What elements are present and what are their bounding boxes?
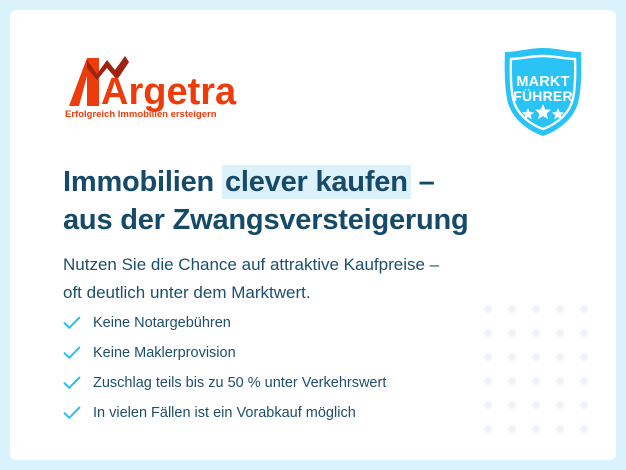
decorative-dot	[532, 353, 540, 361]
decorative-dot	[556, 353, 564, 361]
headline-line2: aus der Zwangsversteigerung	[63, 201, 563, 239]
decorative-dot	[532, 401, 540, 409]
list-item-label: Zuschlag teils bis zu 50 % unter Verkehr…	[93, 373, 386, 393]
decorative-dot	[556, 425, 564, 433]
decorative-dot	[556, 329, 564, 337]
argetra-logo-mark: Argetra Erfolgreich Immobilien ersteiger…	[63, 54, 263, 120]
market-leader-badge: MARKT FÜHRER	[499, 46, 587, 138]
decorative-dot	[580, 377, 588, 385]
argetra-logo[interactable]: Argetra Erfolgreich Immobilien ersteiger…	[63, 54, 263, 120]
benefit-list: Keine NotargebührenKeine Maklerprovision…	[63, 308, 523, 428]
decorative-dot	[580, 305, 588, 313]
badge-line2: FÜHRER	[513, 88, 573, 104]
headline-part1: Immobilien	[63, 166, 222, 198]
headline-part2: –	[411, 166, 435, 198]
subtitle: Nutzen Sie die Chance auf attraktive Kau…	[63, 251, 563, 307]
decorative-dot	[580, 353, 588, 361]
decorative-dot	[556, 377, 564, 385]
check-icon	[63, 346, 93, 360]
decorative-dot	[580, 401, 588, 409]
shield-icon: MARKT FÜHRER	[499, 46, 587, 138]
banner-root: Argetra Erfolgreich Immobilien ersteiger…	[0, 0, 626, 470]
page-title: Immobilien clever kaufen – aus der Zwang…	[63, 163, 563, 239]
check-icon	[63, 376, 93, 390]
list-item-label: Keine Notargebühren	[93, 313, 231, 333]
list-item: Keine Notargebühren	[63, 308, 523, 338]
decorative-dot	[580, 425, 588, 433]
decorative-dot	[556, 401, 564, 409]
list-item: In vielen Fällen ist ein Vorabkauf mögli…	[63, 398, 523, 428]
decorative-dot	[580, 329, 588, 337]
check-icon	[63, 406, 93, 420]
subtitle-line1: Nutzen Sie die Chance auf attraktive Kau…	[63, 255, 439, 274]
list-item-label: Keine Maklerprovision	[93, 343, 236, 363]
decorative-dot	[532, 377, 540, 385]
decorative-dot	[532, 329, 540, 337]
logo-wordmark: Argetra	[101, 71, 237, 113]
promo-card: Argetra Erfolgreich Immobilien ersteiger…	[10, 10, 616, 460]
list-item: Zuschlag teils bis zu 50 % unter Verkehr…	[63, 368, 523, 398]
check-icon	[63, 316, 93, 330]
list-item-label: In vielen Fällen ist ein Vorabkauf mögli…	[93, 403, 356, 423]
list-item: Keine Maklerprovision	[63, 338, 523, 368]
subtitle-line2: oft deutlich unter dem Marktwert.	[63, 279, 563, 307]
decorative-dot	[532, 425, 540, 433]
logo-tagline: Erfolgreich Immobilien ersteigern	[65, 109, 217, 120]
headline-highlight: clever kaufen	[222, 165, 411, 199]
